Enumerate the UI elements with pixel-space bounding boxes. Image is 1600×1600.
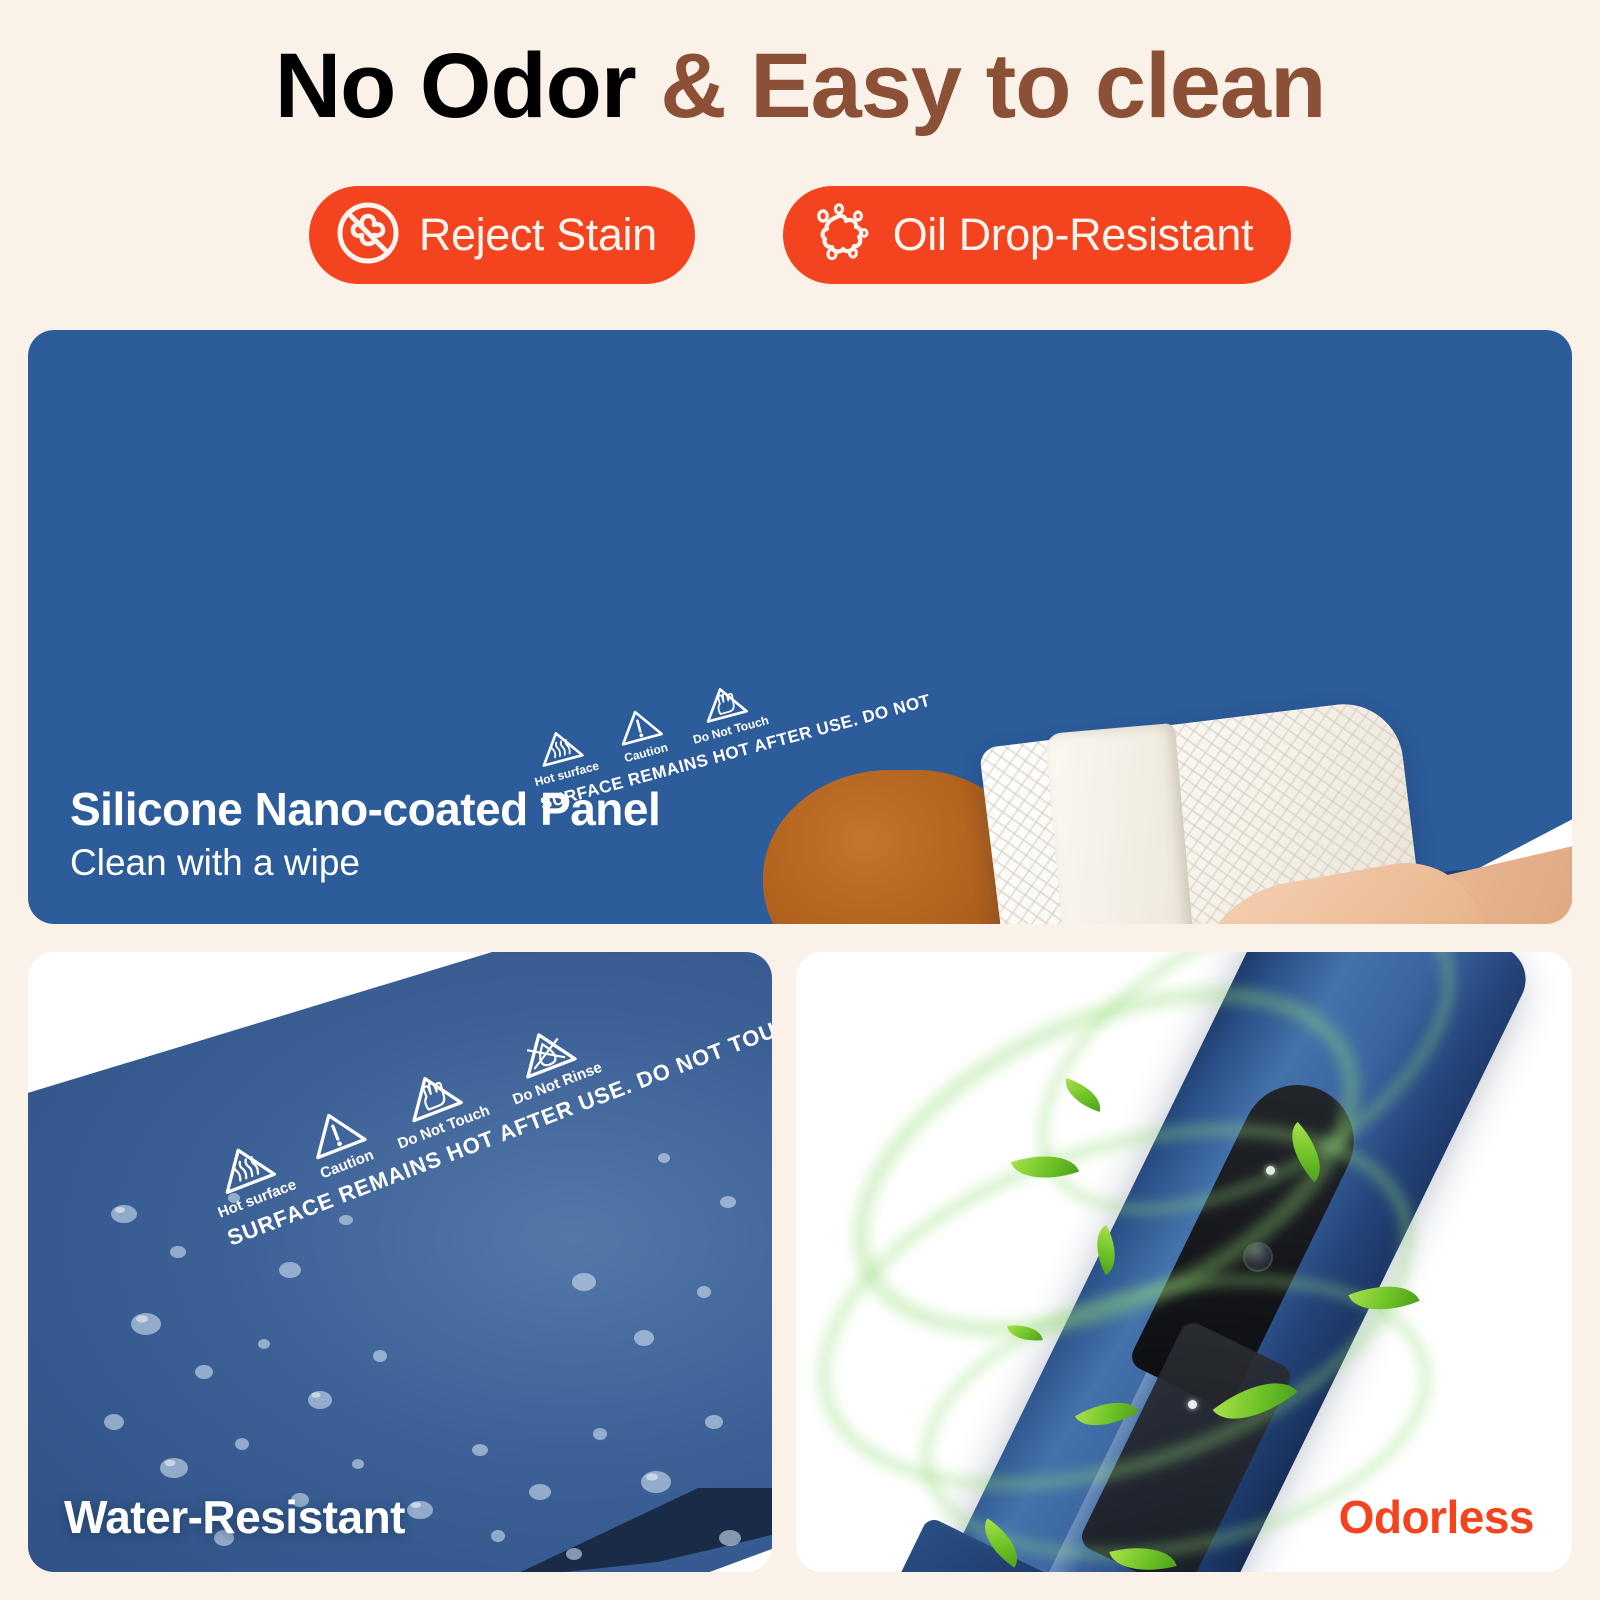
device-led-indicator xyxy=(1188,1400,1197,1409)
device-led-indicator xyxy=(1266,1166,1275,1175)
feature-badge-row: Reject Stain Oil Drop-Resistant xyxy=(0,186,1600,284)
headline-part-orange: No Odor xyxy=(275,35,636,137)
page-title: No Odor & Easy to clean xyxy=(0,36,1600,137)
towel-fold xyxy=(1045,723,1197,924)
panel-wipe-title: Silicone Nano-coated Panel xyxy=(70,782,660,836)
leaf-icon xyxy=(1007,1322,1043,1343)
panel-wipe-caption: Silicone Nano-coated Panel Clean with a … xyxy=(70,782,660,884)
leaf-icon xyxy=(1011,1143,1079,1191)
headline-part-brown: & Easy to clean xyxy=(636,35,1326,137)
badge-oil-drop-resistant-label: Oil Drop-Resistant xyxy=(893,209,1253,261)
panel-wipe-subtitle: Clean with a wipe xyxy=(70,842,660,884)
panel-water-title: Water-Resistant xyxy=(64,1490,405,1544)
warning-caution: Caution xyxy=(612,702,670,765)
badge-reject-stain[interactable]: Reject Stain xyxy=(309,186,695,284)
leaf-icon xyxy=(1060,1078,1107,1112)
panel-odorless-title: Odorless xyxy=(1339,1490,1534,1544)
oil-splatter-icon xyxy=(809,200,875,271)
panel-water-resistant[interactable]: Hot surface Caution Do Not Touch xyxy=(28,952,772,1572)
no-stain-icon xyxy=(335,200,401,271)
panel-odorless[interactable]: Odorless xyxy=(796,952,1572,1572)
panel-silicone-nano-coated[interactable]: Hot surface Caution Do Not Touch SURFACE… xyxy=(28,330,1572,924)
badge-oil-drop-resistant[interactable]: Oil Drop-Resistant xyxy=(783,186,1291,284)
badge-reject-stain-label: Reject Stain xyxy=(419,209,657,261)
